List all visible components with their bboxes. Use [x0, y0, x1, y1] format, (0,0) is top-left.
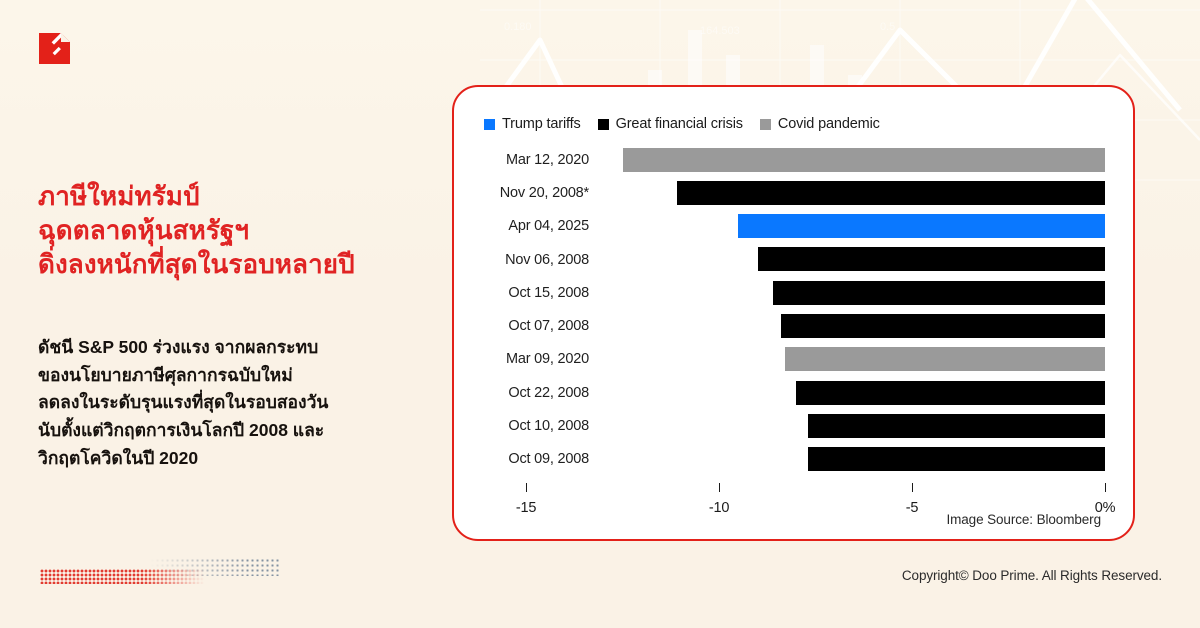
body-line-3: ลดลงในระดับรุนแรงที่สุดในรอบสองวัน	[38, 389, 438, 417]
axis-tick	[719, 483, 720, 492]
axis-tick-label: -10	[709, 500, 729, 516]
chart-category-label: Mar 09, 2020	[454, 343, 589, 376]
chart-category-label: Oct 09, 2008	[454, 443, 589, 476]
chart-row: Oct 15, 2008	[454, 276, 1137, 309]
legend-item-0[interactable]: Trump tariffs	[484, 116, 581, 132]
legend-item-1[interactable]: Great financial crisis	[598, 116, 743, 132]
chart-bar[interactable]	[808, 447, 1105, 471]
doo-prime-logo-icon[interactable]	[39, 33, 70, 64]
copyright-text: Copyright© Doo Prime. All Rights Reserve…	[902, 568, 1162, 583]
headline: ภาษีใหม่ทรัมป์ ฉุดตลาดหุ้นสหรัฐฯ ดิ่งลงห…	[38, 180, 438, 281]
headline-line-1: ภาษีใหม่ทรัมป์	[38, 180, 438, 214]
body-line-2: ของนโยบายภาษีศุลกากรฉบับใหม่	[38, 362, 438, 390]
axis-tick	[526, 483, 527, 492]
axis-tick-label: -5	[906, 500, 919, 516]
chart-row: Mar 09, 2020	[454, 343, 1137, 376]
halftone-red-dots	[40, 569, 205, 584]
chart-category-label: Apr 04, 2025	[454, 210, 589, 243]
chart-row: Apr 04, 2025	[454, 210, 1137, 243]
chart-plot-area: Mar 12, 2020Nov 20, 2008*Apr 04, 2025Nov…	[454, 143, 1137, 483]
chart-row: Nov 20, 2008*	[454, 176, 1137, 209]
poster-canvas: 0.180 164.503 0.5 ภาษีใหม่ทรัมป์ ฉุดตลาด…	[0, 0, 1200, 628]
chart-bar[interactable]	[785, 347, 1105, 371]
image-source-note: Image Source: Bloomberg	[946, 512, 1101, 527]
chart-category-label: Oct 22, 2008	[454, 376, 589, 409]
body-line-4: นับตั้งแต่วิกฤตการเงินโลกปี 2008 และ	[38, 417, 438, 445]
chart-row: Mar 12, 2020	[454, 143, 1137, 176]
chart-row: Oct 22, 2008	[454, 376, 1137, 409]
chart-bar[interactable]	[623, 148, 1106, 172]
chart-card: Trump tariffsGreat financial crisisCovid…	[452, 85, 1135, 541]
chart-bar[interactable]	[677, 181, 1105, 205]
axis-tick-label: -15	[516, 500, 536, 516]
legend-label: Covid pandemic	[778, 116, 880, 132]
chart-category-label: Mar 12, 2020	[454, 143, 589, 176]
axis-tick	[912, 483, 913, 492]
headline-line-3: ดิ่งลงหนักที่สุดในรอบหลายปี	[38, 248, 438, 282]
chart-category-label: Nov 20, 2008*	[454, 176, 589, 209]
chart-row: Oct 10, 2008	[454, 409, 1137, 442]
chart-category-label: Oct 07, 2008	[454, 310, 589, 343]
chart-bar[interactable]	[738, 214, 1105, 238]
axis-tick	[1105, 483, 1106, 492]
legend-swatch-icon	[598, 119, 609, 130]
halftone-decoration	[40, 558, 240, 586]
legend-item-2[interactable]: Covid pandemic	[760, 116, 880, 132]
legend-label: Trump tariffs	[502, 116, 581, 132]
body-copy: ดัชนี S&P 500 ร่วงแรง จากผลกระทบ ของนโยบ…	[38, 334, 438, 472]
chart-bar[interactable]	[758, 247, 1105, 271]
body-line-1: ดัชนี S&P 500 ร่วงแรง จากผลกระทบ	[38, 334, 438, 362]
chart-bar[interactable]	[796, 381, 1105, 405]
chart-category-label: Nov 06, 2008	[454, 243, 589, 276]
chart-row: Nov 06, 2008	[454, 243, 1137, 276]
chart-bar[interactable]	[773, 281, 1105, 305]
chart-category-label: Oct 10, 2008	[454, 409, 589, 442]
legend-label: Great financial crisis	[616, 116, 743, 132]
headline-line-2: ฉุดตลาดหุ้นสหรัฐฯ	[38, 214, 438, 248]
chart-bar[interactable]	[781, 314, 1105, 338]
chart-row: Oct 09, 2008	[454, 443, 1137, 476]
chart-row: Oct 07, 2008	[454, 310, 1137, 343]
legend-swatch-icon	[760, 119, 771, 130]
chart-bar[interactable]	[808, 414, 1105, 438]
chart-category-label: Oct 15, 2008	[454, 276, 589, 309]
chart-legend: Trump tariffsGreat financial crisisCovid…	[484, 116, 880, 132]
body-line-5: วิกฤตโควิดในปี 2020	[38, 445, 438, 473]
legend-swatch-icon	[484, 119, 495, 130]
